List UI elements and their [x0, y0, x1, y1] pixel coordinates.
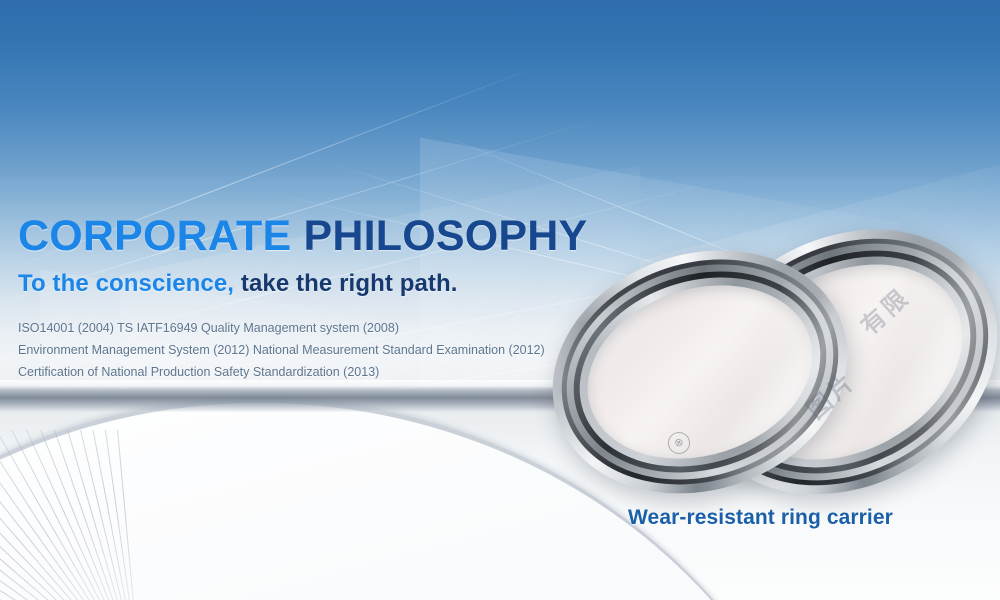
certification-line: Environment Management System (2012) Nat…: [18, 339, 638, 361]
page-title-tail: PHILOSOPHY: [291, 212, 587, 260]
certification-line: ISO14001 (2004) TS IATF16949 Quality Man…: [18, 317, 638, 339]
page-subtitle-tail: take the right path.: [234, 270, 457, 297]
page-title: CORPORATE PHILOSOPHY: [18, 214, 638, 259]
page-subtitle: To the conscience, take the right path.: [18, 271, 638, 297]
walkway-radial-lines: [0, 430, 570, 600]
banner-text-block: CORPORATE PHILOSOPHY To the conscience, …: [18, 214, 638, 383]
certification-line: Certification of National Production Saf…: [18, 361, 638, 383]
corporate-philosophy-banner: ⊗ 图片 有限 CORPORATE PHILOSOPHY To the cons…: [0, 0, 1000, 600]
page-subtitle-lead: To the conscience,: [18, 270, 234, 297]
product-caption: Wear-resistant ring carrier: [628, 506, 893, 530]
certification-list: ISO14001 (2004) TS IATF16949 Quality Man…: [18, 317, 638, 384]
page-title-lead: CORPORATE: [18, 212, 291, 260]
